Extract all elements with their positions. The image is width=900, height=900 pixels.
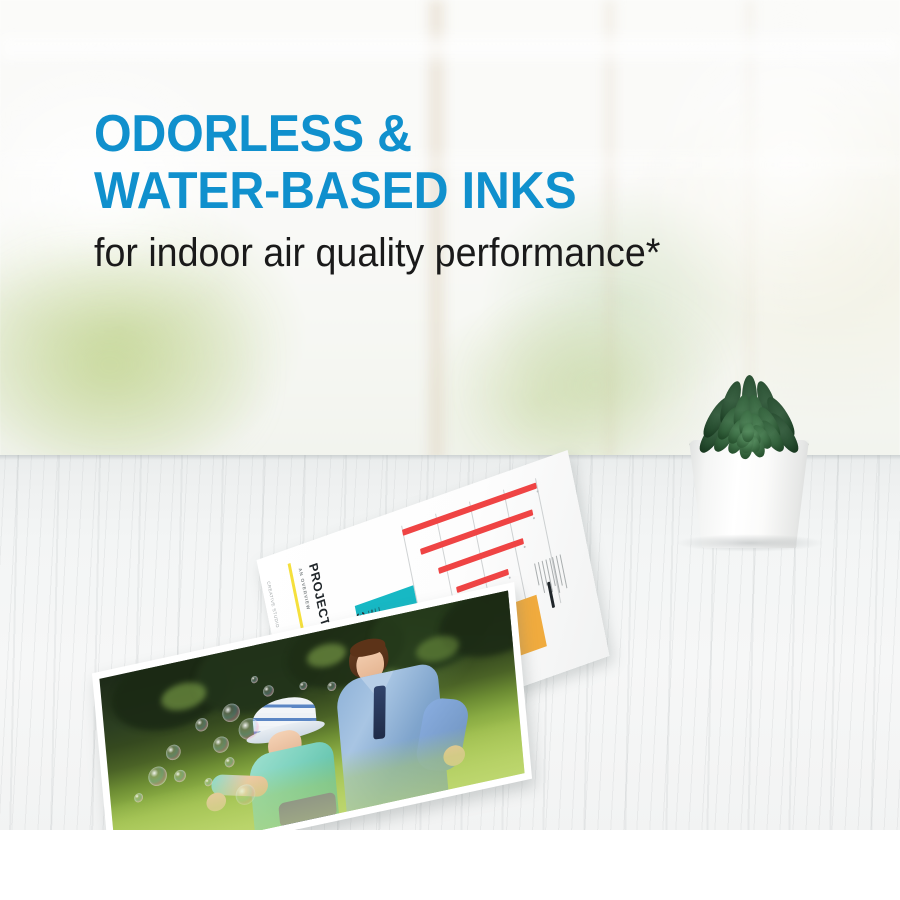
headline-line-1: ODORLESS & <box>94 106 801 163</box>
soap-bubble <box>224 756 235 768</box>
headline-line-2: WATER-BASED INKS <box>94 163 801 220</box>
soap-bubble <box>195 717 209 733</box>
soap-bubble <box>147 765 167 788</box>
soap-bubble <box>174 769 187 784</box>
soap-bubble <box>212 735 229 754</box>
soap-bubble <box>327 681 337 692</box>
marketing-banner: ODORLESS & WATER-BASED INKS for indoor a… <box>0 0 900 900</box>
photo-woman-tie <box>373 685 385 739</box>
pot-shadow <box>675 534 825 552</box>
brochure-body-copy <box>532 554 568 600</box>
succulent-plant <box>667 336 837 548</box>
headline-block: ODORLESS & WATER-BASED INKS for indoor a… <box>94 106 854 276</box>
footnote-band: * Up to A3+ page size HP printing system… <box>0 830 900 900</box>
chart-endpoint-dot <box>509 576 512 579</box>
chart-endpoint-dot <box>523 545 526 548</box>
background-foliage <box>0 250 260 480</box>
headline-subtitle: for indoor air quality performance* <box>94 230 808 276</box>
chart-endpoint-dot <box>533 517 536 520</box>
soap-bubble <box>299 681 308 691</box>
soap-bubble <box>165 743 181 761</box>
